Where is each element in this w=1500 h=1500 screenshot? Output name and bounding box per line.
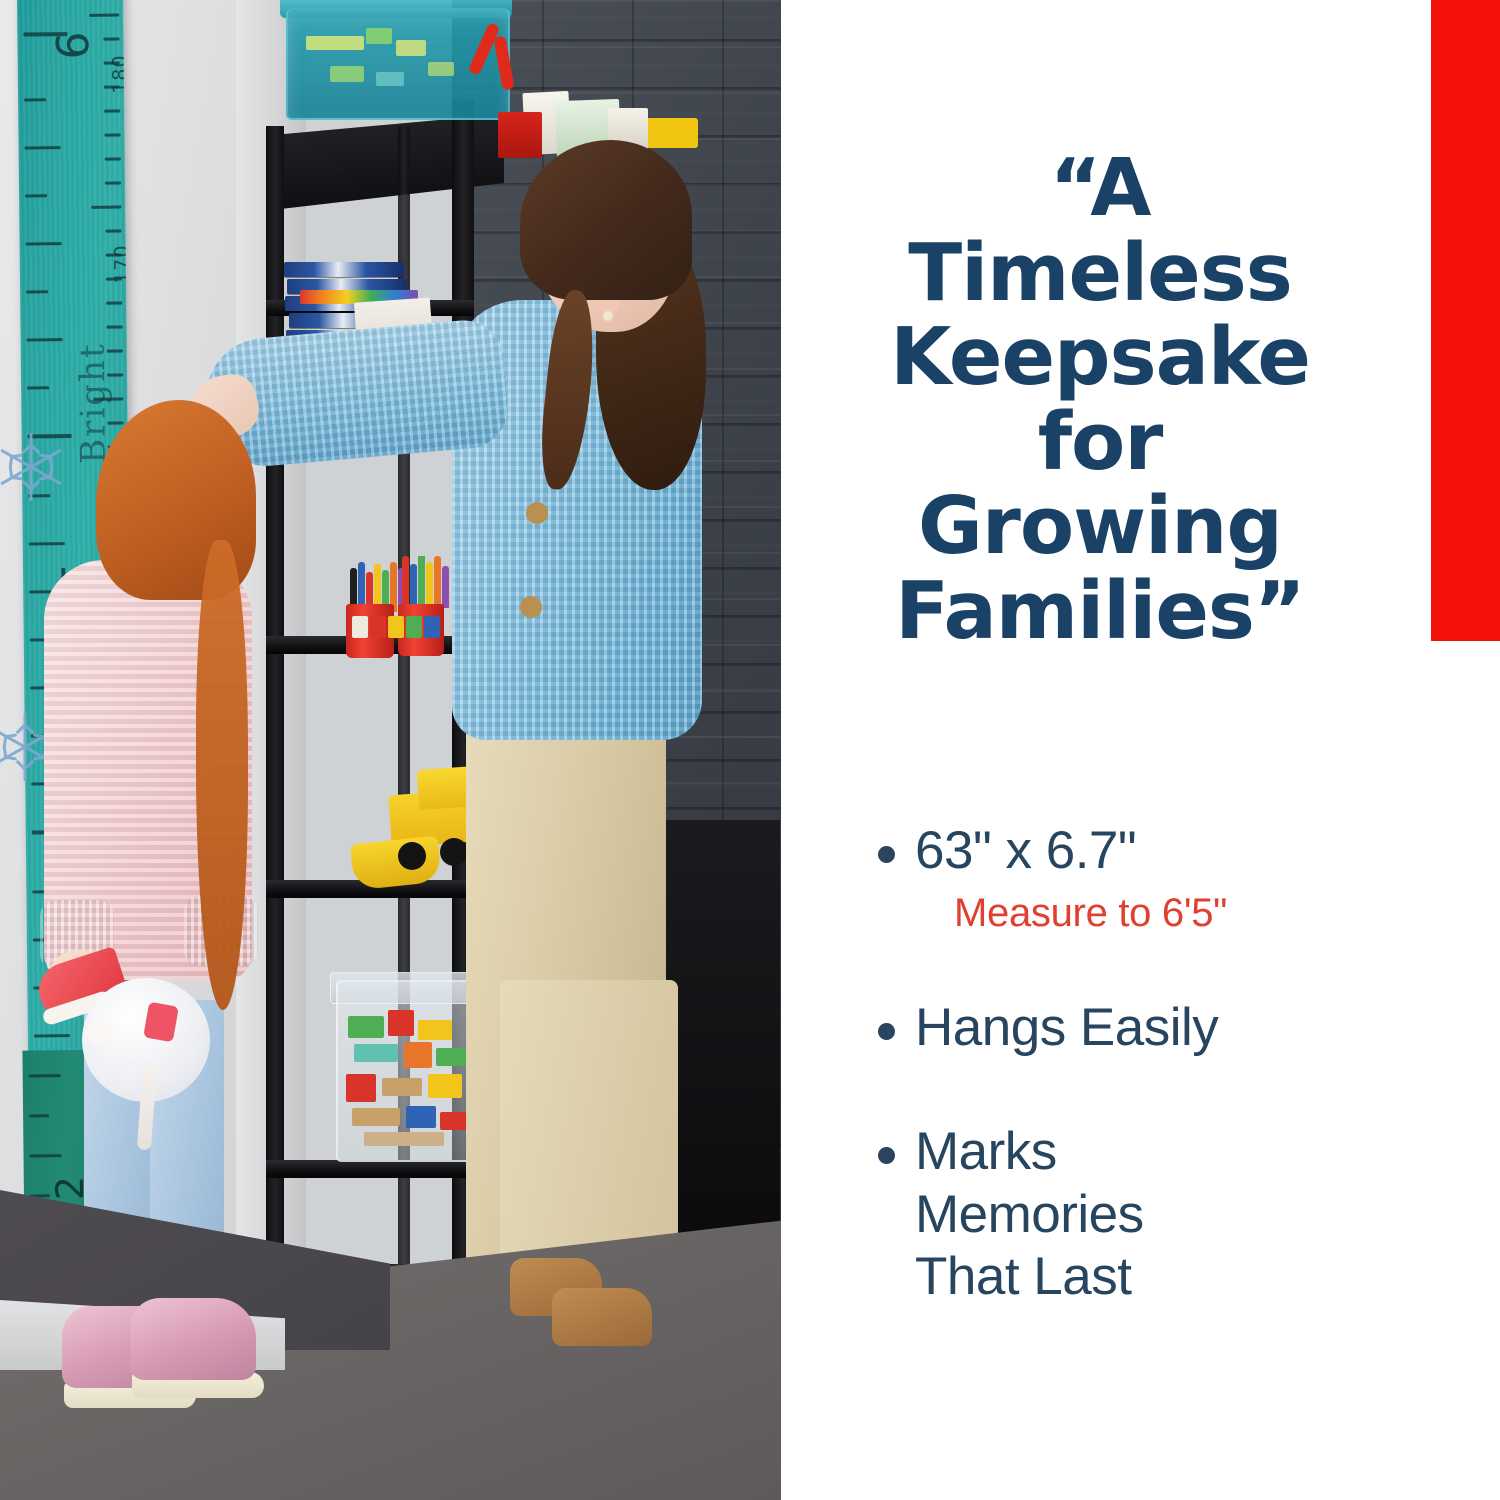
bullet-dot-icon [878,846,895,863]
headline-line-6: Families” [840,569,1360,654]
product-infographic: 6 5 4 3 180 170 160 150 140 Bright 2 [0,0,1500,1500]
headline-line-3: Keepsake [840,315,1360,400]
child-hair-strand [196,540,248,1010]
feature-subtext-measure: Measure to 6'5" [954,891,1348,935]
woman-earring [604,312,612,320]
feature-label: Hangs Easily [915,997,1218,1060]
child-shoe [130,1298,256,1380]
woman-boot [552,1288,652,1346]
headline-line-2: Timeless [840,231,1360,316]
feature-item-marks-memories: Marks Memories That Last [878,1121,1348,1309]
feature-list: 63" x 6.7" Measure to 6'5" Hangs Easily … [878,820,1348,1317]
lifestyle-photo: 6 5 4 3 180 170 160 150 140 Bright 2 [0,0,781,1500]
ruler-brand-text: Bright [73,342,114,464]
paint-bottle [370,616,386,638]
paint-bottle [424,616,440,638]
feature-item-hangs-easily: Hangs Easily [878,997,1348,1060]
santa-hat-pompom [86,1020,112,1044]
woman-hair [520,140,692,300]
shelf-right-column [660,820,780,1280]
bullet-dot-icon [878,1147,895,1164]
bullet-dot-icon [878,1023,895,1040]
ruler-mark-feet-6: 6 [48,31,99,60]
feature-label-line-2: Memories [915,1184,1144,1247]
headline-line-1: “A [840,146,1360,231]
feature-item-dimensions: 63" x 6.7" [878,820,1348,883]
snowflake-icon [0,430,68,504]
feature-label-line-1: Marks [915,1121,1144,1184]
paint-bottle [388,616,404,638]
feature-label: Marks Memories That Last [915,1121,1144,1309]
headline-quote: “A Timeless Keepsake for Growing Familie… [840,146,1360,653]
headline-line-4: for [840,400,1360,485]
yellow-book [646,118,698,148]
paint-bottle [352,616,368,638]
red-accent-bar [1431,0,1500,641]
paint-bottle [406,616,422,638]
headline-line-5: Growing [840,484,1360,569]
feature-label: 63" x 6.7" [915,820,1136,883]
pencils [400,556,458,608]
feature-label-line-3: That Last [915,1246,1144,1309]
